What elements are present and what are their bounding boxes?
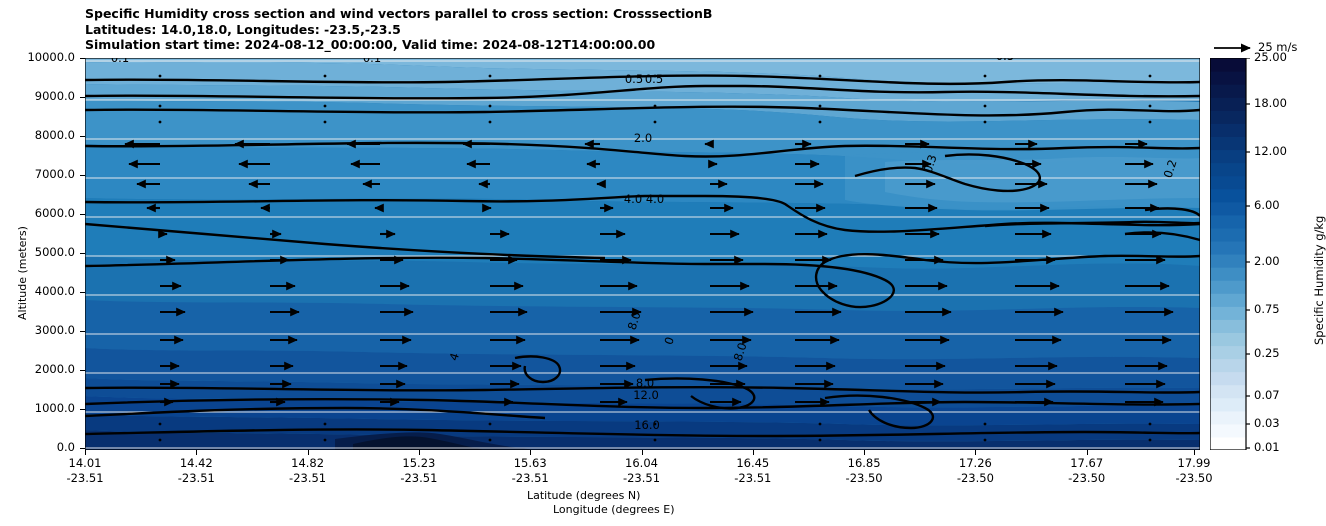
y-tick-mark xyxy=(80,175,85,176)
x-axis-label-latitude: Latitude (degrees N) xyxy=(527,489,640,502)
y-tick-mark xyxy=(80,253,85,254)
contour-label: 16.0 xyxy=(634,418,660,432)
contour-label: 0.1 xyxy=(111,58,129,65)
contour-label: 0.5 xyxy=(645,72,663,86)
x-tick-label-longitude: -23.51 xyxy=(374,471,464,485)
x-tick-label-latitude: 15.63 xyxy=(485,456,575,470)
colorbar-swatch xyxy=(1210,58,1246,72)
colorbar-tick-label: 18.00 xyxy=(1254,96,1287,110)
x-axis-label-longitude: Longitude (degrees E) xyxy=(553,503,675,516)
figure-root: Specific Humidity cross section and wind… xyxy=(0,0,1326,526)
colorbar-label: Specific Humidity g/kg xyxy=(1312,216,1326,345)
x-tick-label-longitude: -23.51 xyxy=(597,471,687,485)
x-tick-label-longitude: -23.50 xyxy=(819,471,909,485)
colorbar-swatch xyxy=(1210,136,1246,150)
x-tick-mark xyxy=(975,450,976,455)
x-tick-label-longitude: -23.50 xyxy=(1042,471,1132,485)
colorbar-swatch xyxy=(1210,411,1246,425)
y-tick-label: 7000.0 xyxy=(0,167,75,181)
title-line-1: Specific Humidity cross section and wind… xyxy=(85,6,712,22)
x-tick-mark xyxy=(1194,450,1195,455)
colorbar-swatch xyxy=(1210,319,1246,333)
colorbar-swatch xyxy=(1210,424,1246,438)
x-tick-label-longitude: -23.51 xyxy=(485,471,575,485)
colorbar-tick-label: 0.03 xyxy=(1254,416,1280,430)
contour-label: 4.0 xyxy=(624,192,642,206)
colorbar-swatch xyxy=(1210,84,1246,98)
x-tick-mark xyxy=(642,450,643,455)
x-tick-label-latitude: 14.42 xyxy=(151,456,241,470)
y-tick-label: 2000.0 xyxy=(0,362,75,376)
colorbar-swatch xyxy=(1210,123,1246,137)
colorbar-swatch xyxy=(1210,267,1246,281)
wind-key-label: 25 m/s xyxy=(1258,40,1297,54)
colorbar xyxy=(1210,58,1250,450)
x-tick-label-longitude: -23.50 xyxy=(930,471,1020,485)
colorbar-tick-label: 2.00 xyxy=(1254,254,1280,268)
colorbar-swatch xyxy=(1210,280,1246,294)
y-tick-mark xyxy=(80,370,85,371)
colorbar-swatch xyxy=(1210,176,1246,190)
x-tick-label-latitude: 14.01 xyxy=(40,456,130,470)
contour-label: 0.1 xyxy=(363,58,381,65)
colorbar-swatch xyxy=(1210,345,1246,359)
y-tick-label: 4000.0 xyxy=(0,284,75,298)
y-tick-mark xyxy=(80,331,85,332)
y-tick-mark xyxy=(80,292,85,293)
colorbar-tick-label: 0.01 xyxy=(1254,440,1280,454)
colorbar-tick-label: 0.25 xyxy=(1254,346,1280,360)
cross-section-plot: 0.10.10.50.50.52.00.30.24.04.048.008.08.… xyxy=(85,58,1200,450)
x-tick-label-latitude: 16.04 xyxy=(597,456,687,470)
colorbar-swatch xyxy=(1210,437,1246,450)
colorbar-swatch xyxy=(1210,332,1246,346)
colorbar-swatch xyxy=(1210,254,1246,268)
colorbar-swatch xyxy=(1210,385,1246,399)
title-line-3: Simulation start time: 2024-08-12_00:00:… xyxy=(85,37,712,53)
contour-label: 0.5 xyxy=(996,58,1014,63)
colorbar-swatch xyxy=(1210,202,1246,216)
colorbar-swatch xyxy=(1210,359,1246,373)
colorbar-tick-label: 0.75 xyxy=(1254,302,1280,316)
wind-key-arrow-icon xyxy=(1212,40,1258,56)
y-tick-label: 0.0 xyxy=(0,440,75,454)
x-tick-label-longitude: -23.51 xyxy=(708,471,798,485)
y-tick-mark xyxy=(80,136,85,137)
colorbar-tick-label: 6.00 xyxy=(1254,198,1280,212)
y-tick-mark xyxy=(80,214,85,215)
y-tick-mark xyxy=(80,448,85,449)
y-tick-label: 3000.0 xyxy=(0,323,75,337)
contour-label: 12.0 xyxy=(633,388,659,402)
colorbar-swatch xyxy=(1210,398,1246,412)
y-tick-mark xyxy=(80,97,85,98)
x-tick-mark xyxy=(864,450,865,455)
x-tick-label-latitude: 16.45 xyxy=(708,456,798,470)
x-tick-mark xyxy=(753,450,754,455)
colorbar-swatch xyxy=(1210,110,1246,124)
x-tick-label-longitude: -23.51 xyxy=(263,471,353,485)
colorbar-swatch xyxy=(1210,97,1246,111)
y-tick-label: 9000.0 xyxy=(0,89,75,103)
colorbar-swatch xyxy=(1210,241,1246,255)
colorbar-tick-label: 0.07 xyxy=(1254,388,1280,402)
colorbar-swatch xyxy=(1210,372,1246,386)
y-tick-label: 10000.0 xyxy=(0,50,75,64)
contour-label: 2.0 xyxy=(634,131,652,145)
colorbar-tick-label: 12.00 xyxy=(1254,144,1287,158)
x-tick-label-longitude: -23.51 xyxy=(151,471,241,485)
title-line-2: Latitudes: 14.0,18.0, Longitudes: -23.5,… xyxy=(85,22,712,38)
x-tick-mark xyxy=(85,450,86,455)
contour-label: 4.0 xyxy=(646,192,664,206)
x-tick-label-longitude: -23.50 xyxy=(1149,471,1239,485)
colorbar-swatch xyxy=(1210,306,1246,320)
x-tick-label-latitude: 14.82 xyxy=(263,456,353,470)
y-tick-mark xyxy=(80,58,85,59)
colorbar-swatch xyxy=(1210,149,1246,163)
y-tick-label: 6000.0 xyxy=(0,206,75,220)
colorbar-swatch xyxy=(1210,293,1246,307)
x-tick-mark xyxy=(1087,450,1088,455)
x-tick-label-latitude: 15.23 xyxy=(374,456,464,470)
x-tick-label-latitude: 17.67 xyxy=(1042,456,1132,470)
x-tick-label-latitude: 16.85 xyxy=(819,456,909,470)
colorbar-swatch xyxy=(1210,189,1246,203)
x-tick-mark xyxy=(419,450,420,455)
y-tick-label: 5000.0 xyxy=(0,245,75,259)
x-tick-mark xyxy=(530,450,531,455)
y-tick-label: 1000.0 xyxy=(0,401,75,415)
x-tick-label-longitude: -23.51 xyxy=(40,471,130,485)
y-tick-label: 8000.0 xyxy=(0,128,75,142)
x-tick-mark xyxy=(196,450,197,455)
y-axis-label: Altitude (meters) xyxy=(16,226,29,320)
figure-title: Specific Humidity cross section and wind… xyxy=(85,6,712,53)
y-tick-mark xyxy=(80,409,85,410)
colorbar-swatch xyxy=(1210,163,1246,177)
colorbar-swatch xyxy=(1210,71,1246,85)
colorbar-swatch xyxy=(1210,215,1246,229)
colorbar-swatch xyxy=(1210,228,1246,242)
x-tick-mark xyxy=(308,450,309,455)
x-tick-label-latitude: 17.26 xyxy=(930,456,1020,470)
contour-label: 0.5 xyxy=(625,72,643,86)
x-tick-label-latitude: 17.99 xyxy=(1149,456,1239,470)
